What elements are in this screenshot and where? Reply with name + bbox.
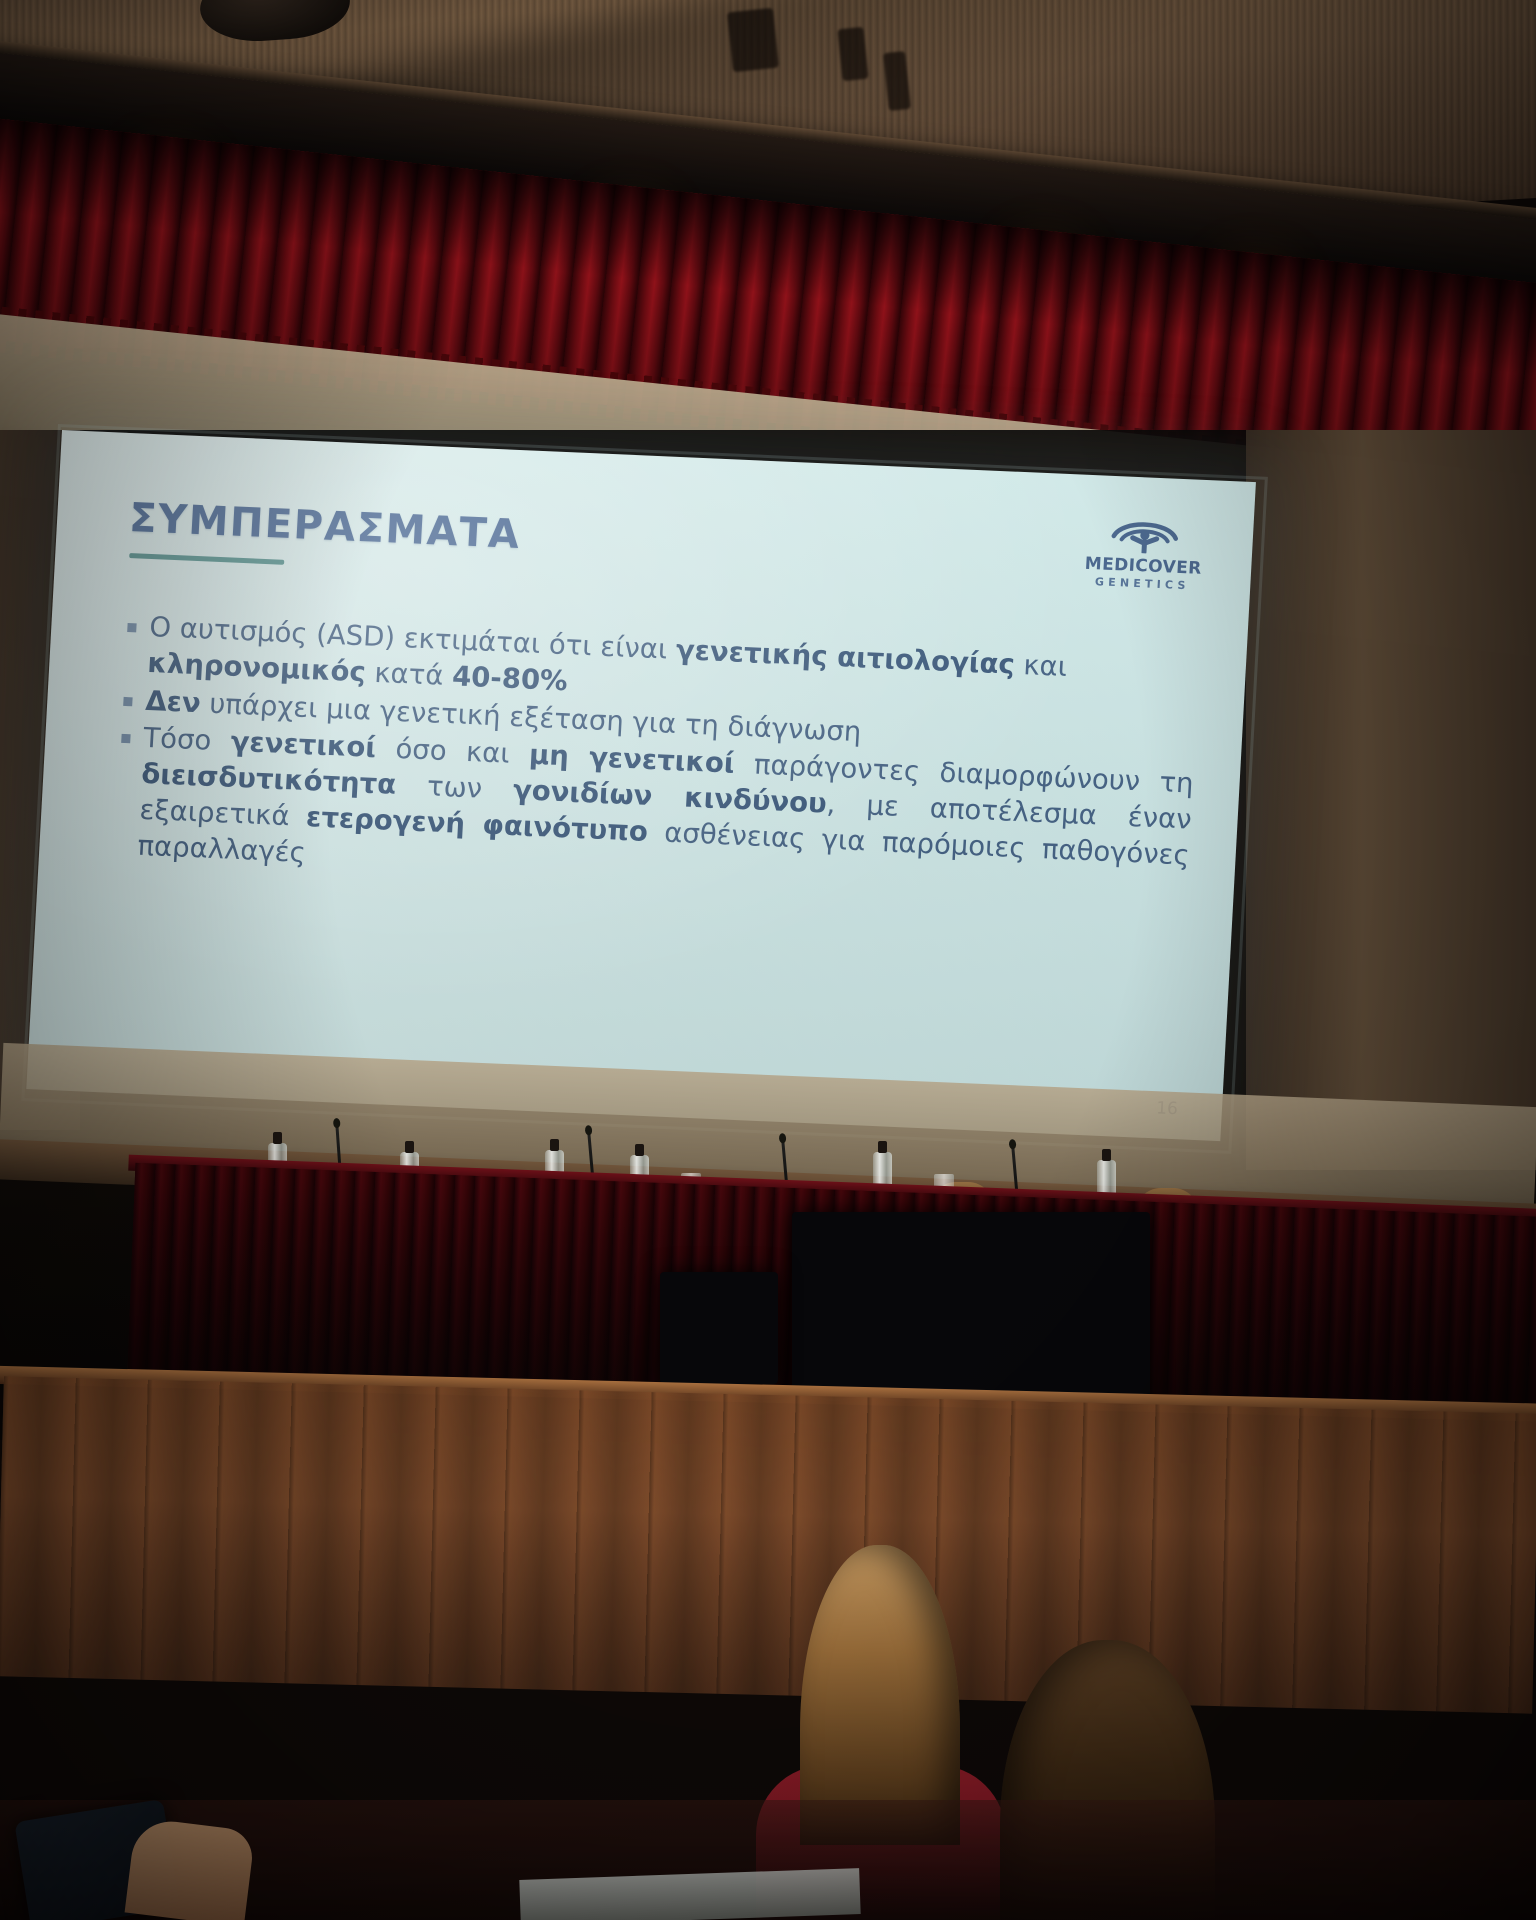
bullet-marker-icon [123,696,132,705]
slide-title: ΣΥΜΠΕΡΑΣΜΑΤΑ [128,495,522,558]
medicover-logo: MEDICOVER GENETICS [1078,513,1210,592]
presenter-monitor [660,1272,778,1384]
medicover-arc-figure-icon [1107,514,1183,555]
right-wall [1246,430,1536,1170]
bullet-text: Ο αυτισμός (ASD) εκτιμάται ότι είναι γεν… [147,611,1068,697]
title-underline [129,553,284,565]
projection-screen: ΣΥΜΠΕΡΑΣΜΑΤΑ MEDICOVER GENETICS Ο αυτισμ… [26,430,1256,1141]
bullet-marker-icon [127,623,136,632]
auditorium-photo: ΣΥΜΠΕΡΑΣΜΑΤΑ MEDICOVER GENETICS Ο αυτισμ… [0,0,1536,1920]
hand [125,1817,256,1920]
slide-bullet-list: Ο αυτισμός (ASD) εκτιμάται ότι είναι γεν… [109,609,1201,912]
bullet-marker-icon [121,734,130,743]
presentation-slide: ΣΥΜΠΕΡΑΣΜΑΤΑ MEDICOVER GENETICS Ο αυτισμ… [26,430,1256,1141]
wood-panel-wall [0,1376,1536,1713]
